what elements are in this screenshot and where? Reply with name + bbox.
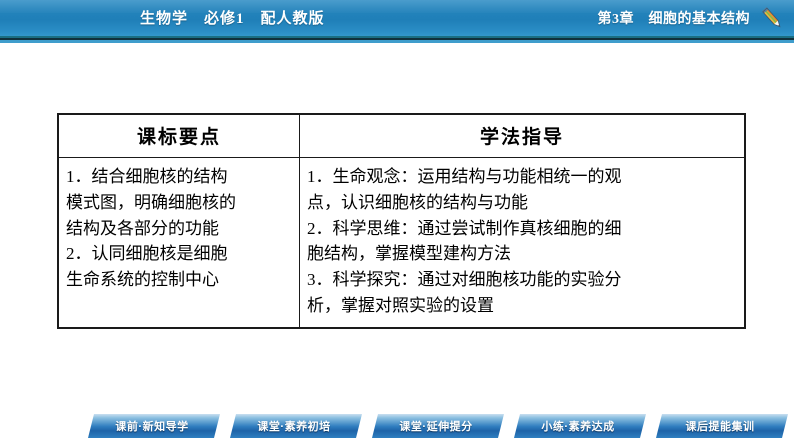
pencil-icon[interactable] xyxy=(758,5,788,33)
bottom-navigation-bar: 课前·新知导学 课堂·素养初培 课堂·延伸提分 小练·素养达成 课后提能集训 xyxy=(0,411,794,441)
column-header-standards: 课标要点 xyxy=(59,115,300,158)
standards-line-4: 2．认同细胞核是细胞 xyxy=(66,241,293,267)
column-header-guidance: 学法指导 xyxy=(300,115,745,158)
nav-button-tail xyxy=(790,414,794,438)
guidance-cell: 1．生命观念：运用结构与功能相统一的观 点，认识细胞核的结构与功能 2．科学思维… xyxy=(300,158,745,328)
nav-button-tail xyxy=(506,414,516,438)
standards-line-5: 生命系统的控制中心 xyxy=(66,267,293,293)
guidance-line-5: 3．科学探究：通过对细胞核功能的实验分 xyxy=(307,267,738,293)
objectives-table: 课标要点 学法指导 1．结合细胞核的结构 模式图，明确细胞核的 结构及各部分的功… xyxy=(57,113,746,329)
table-header-row: 课标要点 学法指导 xyxy=(59,115,745,158)
nav-button-homework-label: 课后提能集训 xyxy=(686,418,755,434)
nav-button-class-basic[interactable]: 课堂·素养初培 xyxy=(230,414,362,438)
nav-button-tail xyxy=(222,414,232,438)
header-underline-light xyxy=(0,40,794,43)
nav-button-practice-label: 小练·素养达成 xyxy=(541,418,614,434)
nav-button-preview[interactable]: 课前·新知导学 xyxy=(88,414,220,438)
guidance-line-1: 1．生命观念：运用结构与功能相统一的观 xyxy=(307,164,738,190)
nav-button-homework[interactable]: 课后提能集训 xyxy=(656,414,788,438)
standards-cell: 1．结合细胞核的结构 模式图，明确细胞核的 结构及各部分的功能 2．认同细胞核是… xyxy=(59,158,300,328)
nav-button-practice[interactable]: 小练·素养达成 xyxy=(514,414,646,438)
guidance-line-3: 2．科学思维：通过尝试制作真核细胞的细 xyxy=(307,216,738,242)
guidance-line-6: 析，掌握对照实验的设置 xyxy=(307,293,738,319)
standards-line-1: 1．结合细胞核的结构 xyxy=(66,164,293,190)
nav-button-tail xyxy=(364,414,374,438)
nav-button-class-basic-label: 课堂·素养初培 xyxy=(257,418,330,434)
standards-line-2: 模式图，明确细胞核的 xyxy=(66,190,293,216)
guidance-line-2: 点，认识细胞核的结构与功能 xyxy=(307,190,738,216)
book-title-label: 生物学 必修1 配人教版 xyxy=(140,7,325,28)
standards-line-3: 结构及各部分的功能 xyxy=(66,216,293,242)
guidance-line-4: 胞结构，掌握模型建构方法 xyxy=(307,241,738,267)
table-body-row: 1．结合细胞核的结构 模式图，明确细胞核的 结构及各部分的功能 2．认同细胞核是… xyxy=(59,158,745,328)
nav-button-class-extend[interactable]: 课堂·延伸提分 xyxy=(372,414,504,438)
top-header-bar: 生物学 必修1 配人教版 第3章 细胞的基本结构 xyxy=(0,0,794,36)
chapter-title-label: 第3章 细胞的基本结构 xyxy=(598,8,751,28)
nav-button-tail xyxy=(648,414,658,438)
nav-button-class-extend-label: 课堂·延伸提分 xyxy=(399,418,472,434)
table: 课标要点 学法指导 1．结合细胞核的结构 模式图，明确细胞核的 结构及各部分的功… xyxy=(58,114,745,328)
nav-button-preview-label: 课前·新知导学 xyxy=(115,418,188,434)
